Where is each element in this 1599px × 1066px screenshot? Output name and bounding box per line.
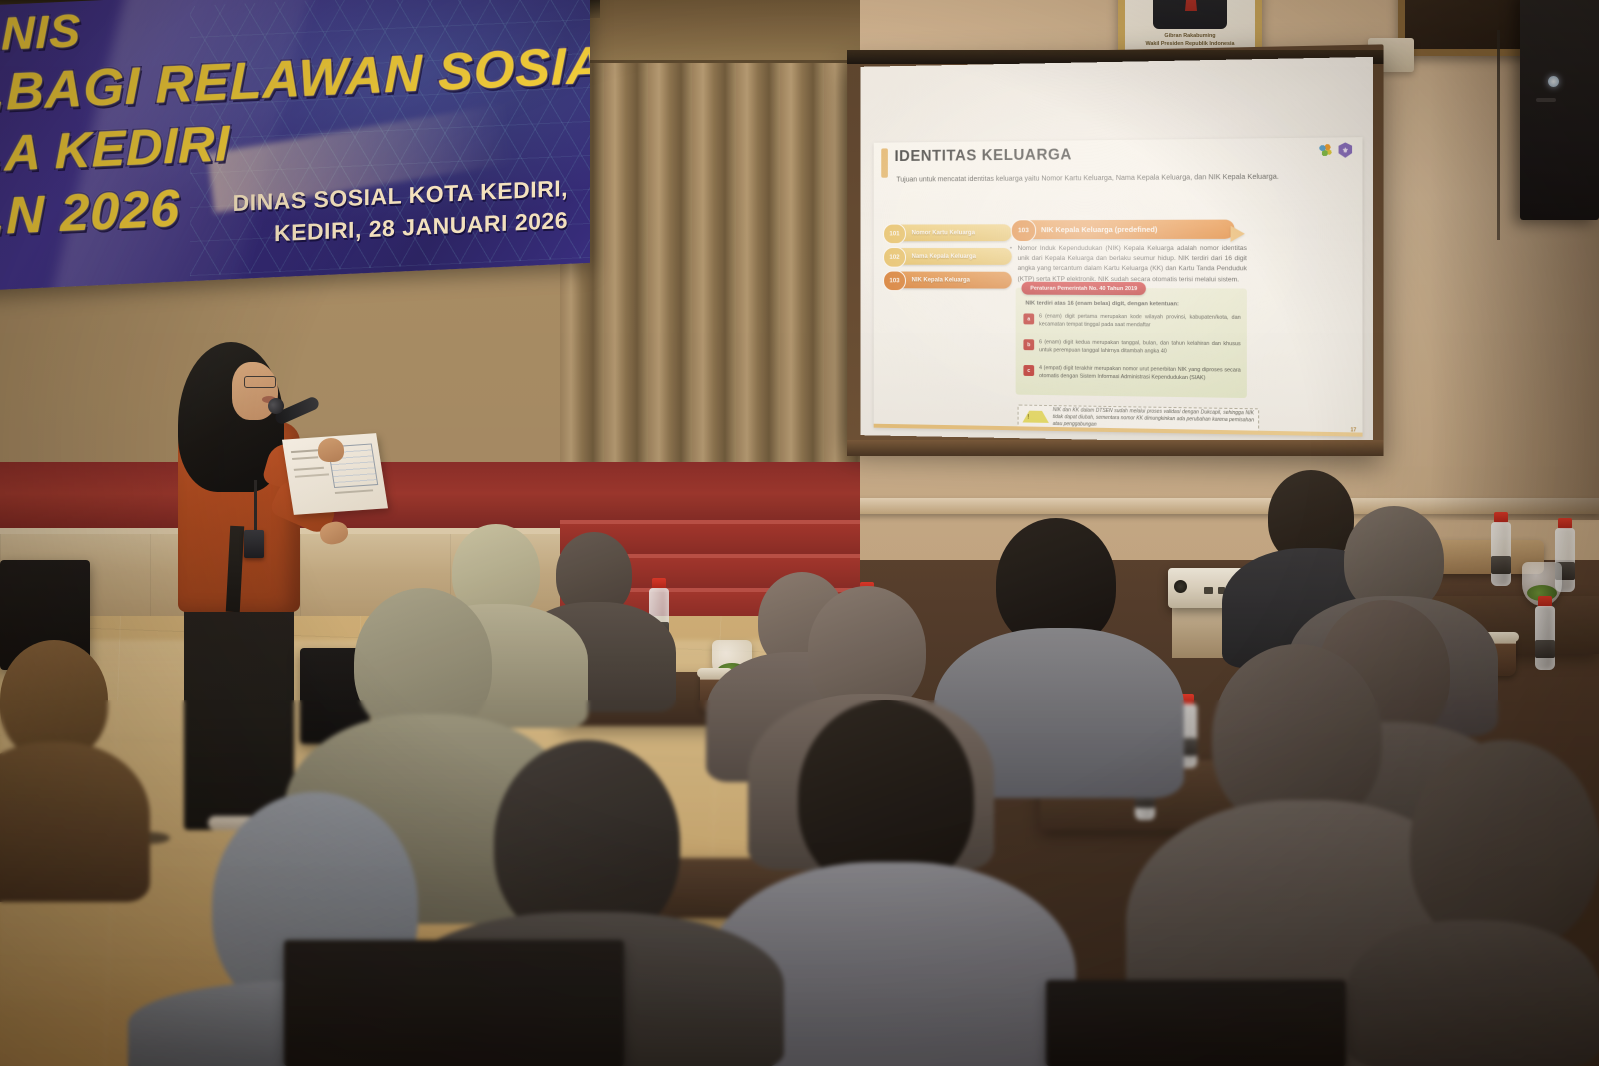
seminar-photograph: ...NIS ...BAGI RELAWAN SOSIAL ...A KEDIR…: [0, 0, 1599, 1066]
slide-body-text: Nomor Induk Kependudukan (NIK) Kepala Ke…: [1018, 245, 1247, 283]
community-logo-icon: [1318, 143, 1334, 158]
slide-tag-number: 101: [883, 224, 906, 245]
projector-port: [1204, 587, 1213, 594]
banner-line-4: ...N 2026: [0, 179, 180, 249]
bottle-label: [1535, 640, 1555, 658]
regulation-item-letter: b: [1023, 339, 1034, 350]
regulation-item-text: 6 (enam) digit pertama merupakan kode wi…: [1039, 314, 1241, 331]
bottle-label: [1491, 556, 1511, 574]
projection-screen-bottom-bar: [847, 440, 1383, 456]
document-text-line: [335, 489, 373, 494]
slide-tag-label: NIK Kepala Keluarga: [912, 276, 970, 283]
slide-regulation-lead: NIK terdiri atas 16 (enam belas) digit, …: [1025, 301, 1179, 308]
slide-logos: ⚜: [1318, 142, 1352, 158]
slide-tag-number: 102: [883, 247, 906, 268]
bottle-body: [1535, 606, 1555, 670]
slide-tag-102: 102 Nama Kepala Keluarga: [889, 248, 1012, 265]
slide-sidebar-tags: 101 Nomor Kartu Keluarga 102 Nama Kepala…: [889, 224, 1012, 295]
projection-screen: IDENTITAS KELUARGA ⚜ Tujuan untuk mencat…: [860, 57, 1373, 445]
portrait-caption: Gibran Rakabuming Wakil Presiden Republi…: [1125, 33, 1255, 48]
portrait-caption-name: Gibran Rakabuming: [1164, 33, 1215, 39]
slide-title-accent-bar: [881, 148, 888, 177]
slide-callout-banner: 103 NIK Kepala Keluarga (predefined): [1016, 220, 1235, 240]
document-text-line: [295, 473, 329, 477]
chair-back: [284, 940, 624, 1066]
curtain-valance: [560, 0, 860, 63]
framed-artwork: [1398, 0, 1532, 56]
chair-back: [1046, 980, 1346, 1066]
slide-tag-label: Nama Kepala Keluarga: [912, 253, 976, 260]
presentation-slide: IDENTITAS KELUARGA ⚜ Tujuan untuk mencat…: [874, 137, 1363, 437]
stage-curtain-right: [560, 0, 860, 470]
slide-regulation-box: Peraturan Pemerintah No. 40 Tahun 2019 N…: [1016, 288, 1247, 398]
name-badge: [244, 530, 264, 558]
slide-regulation-pill: Peraturan Pemerintah No. 40 Tahun 2019: [1021, 282, 1146, 295]
slide-callout-number: 103: [1011, 219, 1036, 242]
speaker-port: [1536, 98, 1556, 102]
water-bottle: [1534, 596, 1556, 670]
slide-callout-arrow-icon: [1231, 226, 1245, 242]
projector-lens-icon: [1174, 580, 1187, 593]
bottle-body: [1491, 522, 1511, 586]
eyeglasses-icon: [244, 376, 276, 388]
presenter-hand-mic: [318, 438, 344, 462]
event-backdrop-banner: ...NIS ...BAGI RELAWAN SOSIAL ...A KEDIR…: [0, 0, 590, 291]
document-text-line: [294, 467, 324, 471]
slide-tag-number: 103: [883, 271, 906, 292]
lanyard: [254, 480, 257, 532]
bullet-dot-icon: •: [1010, 244, 1012, 254]
slide-tag-103: 103 NIK Kepala Keluarga: [889, 272, 1012, 289]
regulation-item-text: 6 (enam) digit kedua merupakan tanggal, …: [1039, 339, 1241, 357]
water-bottle: [1490, 512, 1512, 586]
hanging-cable: [1497, 30, 1500, 240]
warning-triangle-icon: [1022, 411, 1048, 423]
slide-top-band: [874, 137, 1363, 143]
slide-tag-101: 101 Nomor Kartu Keluarga: [889, 224, 1012, 241]
regulation-item-letter: c: [1023, 365, 1034, 376]
slide-title: IDENTITAS KELUARGA: [895, 146, 1073, 166]
city-shield-logo-icon: ⚜: [1339, 142, 1353, 157]
banner-line-1: ...NIS: [0, 3, 81, 62]
slide-regulation-item-c: c 4 (empat) digit terakhir merupakan nom…: [1023, 365, 1240, 383]
portrait-caption-title: Wakil Presiden Republik Indonesia: [1145, 41, 1234, 47]
loudspeaker-cabinet: [1520, 0, 1599, 220]
speaker-led-indicator: [1548, 76, 1559, 87]
regulation-item-letter: a: [1023, 313, 1034, 324]
slide-callout-label: NIK Kepala Keluarga (predefined): [1041, 225, 1157, 234]
document-text-line: [292, 456, 318, 460]
slide-regulation-item-a: a 6 (enam) digit pertama merupakan kode …: [1023, 313, 1240, 330]
slide-body-bullet: • Nomor Induk Kependudukan (NIK) Kepala …: [1018, 244, 1247, 285]
slide-regulation-item-b: b 6 (enam) digit kedua merupakan tanggal…: [1023, 339, 1240, 357]
portrait-tie: [1185, 0, 1197, 11]
regulation-item-text: 4 (empat) digit terakhir merupakan nomor…: [1039, 365, 1241, 383]
slide-tag-label: Nomor Kartu Keluarga: [912, 229, 975, 236]
slide-intro-text: Tujuan untuk mencatat identitas keluarga…: [896, 172, 1292, 186]
